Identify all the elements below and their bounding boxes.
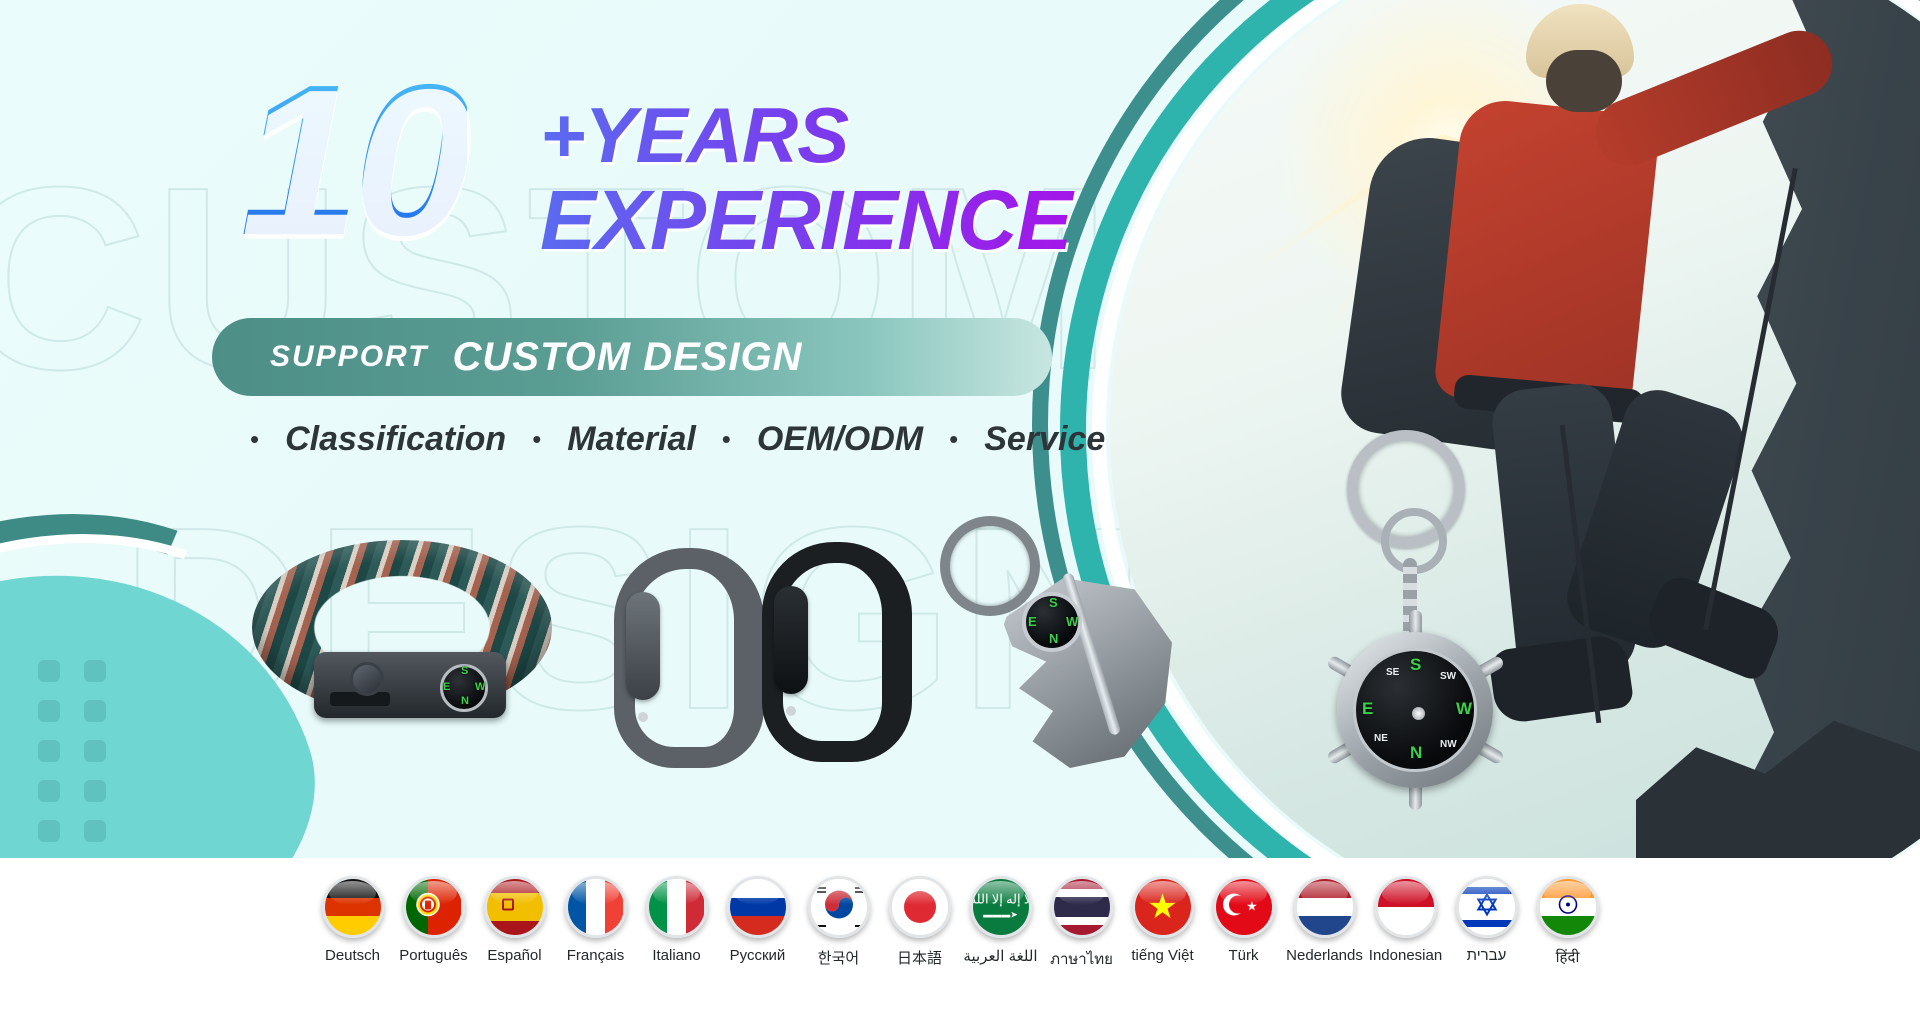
product-paracord-survival-bracelet: S E W N: [252, 520, 552, 740]
language-label: tiếng Việt: [1131, 947, 1193, 964]
feature-list: • Classification • Material • OEM/ODM • …: [250, 420, 1105, 459]
language-option-vn[interactable]: ★tiếng Việt: [1122, 876, 1203, 964]
language-option-sa[interactable]: لا إله إلا الله▬▬▬➤اللغة العربية: [960, 876, 1041, 965]
language-option-il[interactable]: עברית: [1446, 876, 1527, 964]
hero-section: CUSTOM DESIGN: [0, 0, 1920, 858]
promo-banner-page: CUSTOM DESIGN: [0, 0, 1920, 1011]
feature-material: Material: [567, 420, 696, 459]
support-label: SUPPORT: [270, 340, 428, 374]
language-option-kr[interactable]: 한국어: [798, 876, 879, 968]
flag-icon-nl[interactable]: [1294, 876, 1356, 938]
product-compass-hook-keychain: S E W N: [940, 516, 1210, 776]
flag-icon-id[interactable]: [1375, 876, 1437, 938]
headline-years-experience: +YEARS EXPERIENCE: [540, 98, 1100, 261]
flag-icon-fr[interactable]: [565, 876, 627, 938]
svg-text:★: ★: [1246, 899, 1258, 914]
flag-icon-th[interactable]: [1051, 876, 1113, 938]
headline-number: 10: [240, 52, 467, 267]
language-label: Français: [567, 947, 625, 964]
language-selector-bar[interactable]: Deutsch Português EspañolFrançaisItalian…: [0, 858, 1920, 1011]
language-option-th[interactable]: ภาษาไทย: [1041, 876, 1122, 971]
language-label: ภาษาไทย: [1050, 947, 1113, 971]
headline-line-2: EXPERIENCE: [540, 180, 1100, 261]
bracelet-compass: S E W N: [440, 664, 488, 712]
language-label: עברית: [1467, 947, 1507, 964]
flag-icon-it[interactable]: [646, 876, 708, 938]
language-option-in[interactable]: हिंदी: [1527, 876, 1608, 967]
flag-icon-de[interactable]: [322, 876, 384, 938]
bullet-icon: •: [532, 424, 541, 455]
language-option-id[interactable]: Indonesian: [1365, 876, 1446, 964]
language-option-tr[interactable]: ★Türk: [1203, 876, 1284, 964]
language-label: 한국어: [818, 947, 859, 968]
headline-line-1: +YEARS: [540, 98, 1100, 174]
flag-icon-pt[interactable]: [403, 876, 465, 938]
key-ring-icon: [940, 516, 1040, 616]
language-label: Türk: [1229, 947, 1259, 964]
language-label: Nederlands: [1286, 947, 1363, 964]
language-option-de[interactable]: Deutsch: [312, 876, 393, 964]
flag-icon-tr[interactable]: ★: [1213, 876, 1275, 938]
flag-icon-il[interactable]: [1456, 876, 1518, 938]
flag-icon-jp[interactable]: [889, 876, 951, 938]
bullet-icon: •: [949, 424, 958, 455]
language-option-jp[interactable]: 日本語: [879, 876, 960, 968]
compass-dial: S E W N SE SW NE NW: [1353, 648, 1477, 772]
ship-wheel: S E W N SE SW NE NW: [1331, 626, 1499, 794]
feature-oem-odm: OEM/ODM: [757, 420, 923, 459]
language-label: اللغة العربية: [963, 947, 1037, 965]
bullet-icon: •: [722, 424, 731, 455]
flag-icon-sa[interactable]: لا إله إلا الله▬▬▬➤: [970, 876, 1032, 938]
language-label: Español: [487, 947, 541, 964]
language-option-fr[interactable]: Français: [555, 876, 636, 964]
language-option-it[interactable]: Italiano: [636, 876, 717, 964]
feature-classification: Classification: [285, 420, 506, 459]
flag-icon-ru[interactable]: [727, 876, 789, 938]
bullet-icon: •: [250, 424, 259, 455]
support-title: CUSTOM DESIGN: [452, 335, 802, 380]
language-option-nl[interactable]: Nederlands: [1284, 876, 1365, 964]
flag-icon-in[interactable]: [1537, 876, 1599, 938]
language-label: Italiano: [652, 947, 700, 964]
language-label: 日本語: [897, 947, 942, 968]
flag-icon-es[interactable]: [484, 876, 546, 938]
dot-grid-decoration: [38, 660, 112, 848]
product-carabiner-gray: [614, 548, 764, 768]
flag-icon-kr[interactable]: [808, 876, 870, 938]
feature-service: Service: [984, 420, 1105, 459]
hook-compass: S E W N: [1022, 592, 1082, 652]
product-ship-wheel-compass-keychain: S E W N SE SW NE NW: [1285, 430, 1545, 750]
language-option-ru[interactable]: Русский: [717, 876, 798, 964]
language-option-pt[interactable]: Português: [393, 876, 474, 964]
buckle-with-whistle: S E W N: [314, 652, 506, 718]
language-label: Indonesian: [1369, 947, 1442, 964]
language-label: Português: [399, 947, 467, 964]
flag-icon-vn[interactable]: ★: [1132, 876, 1194, 938]
product-carabiner-black: [762, 542, 912, 762]
language-option-es[interactable]: Español: [474, 876, 555, 964]
support-custom-design-banner: SUPPORT CUSTOM DESIGN: [212, 318, 1052, 396]
language-label: हिंदी: [1556, 947, 1580, 967]
language-label: Deutsch: [325, 947, 380, 964]
language-label: Русский: [730, 947, 786, 964]
